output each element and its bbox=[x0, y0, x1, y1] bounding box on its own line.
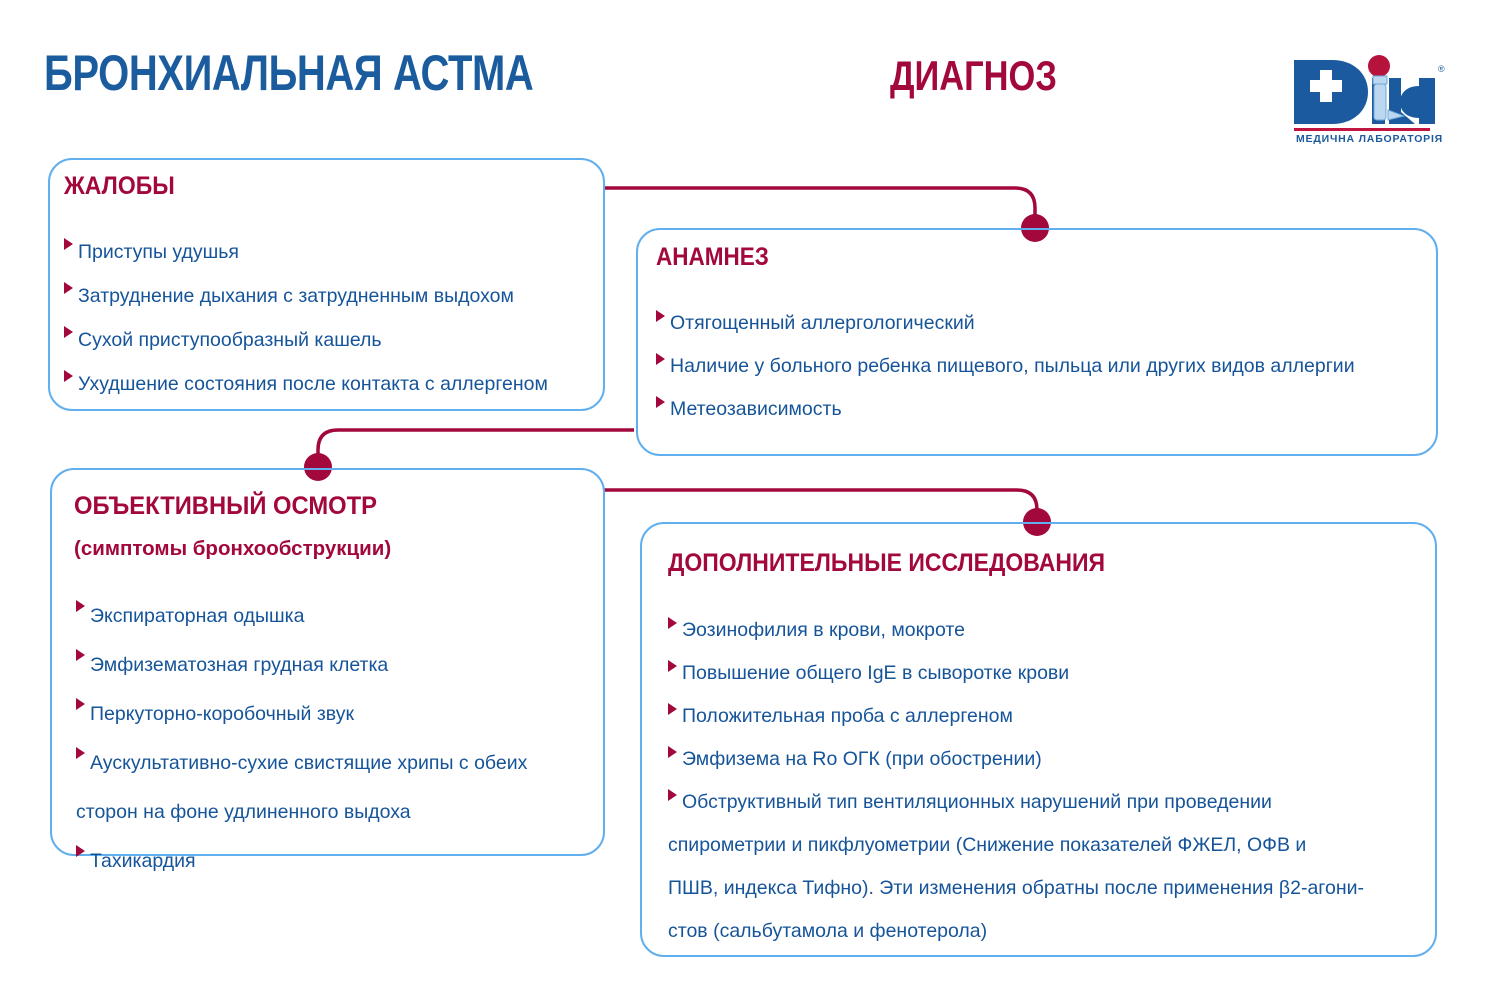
list-item: Затруднение дыхания с затрудненным выдох… bbox=[64, 274, 591, 318]
list-item: Экспираторная одышка bbox=[76, 592, 589, 641]
logo-divider bbox=[1294, 128, 1430, 131]
dila-logo: ® МЕДИЧНА ЛАБОРАТОРІЯ bbox=[1288, 52, 1448, 144]
list-item: Эмфизематозная грудная клетка bbox=[76, 641, 589, 690]
list-item: Отягощенный аллергологический bbox=[656, 302, 1424, 345]
card-title-osmotr: ОБЪЕКТИВНЫЙ ОСМОТР bbox=[74, 492, 377, 521]
list-item: Обструктивный тип вентиляционных нарушен… bbox=[668, 781, 1421, 824]
page-subtitle: ДИАГНОЗ bbox=[890, 55, 1057, 97]
bullet-list-zhaloby: Приступы удушья Затруднение дыхания с за… bbox=[64, 230, 591, 406]
list-item: Наличие у больного ребенка пищевого, пыл… bbox=[656, 345, 1424, 388]
list-item-continuation: спирометрии и пикфлуометрии (Снижение по… bbox=[668, 824, 1421, 867]
list-item-continuation: ПШВ, индекса Тифно). Эти изменения обрат… bbox=[668, 867, 1421, 910]
list-item: Ухудшение состояния после контакта с алл… bbox=[64, 362, 591, 406]
card-anamnez: АНАМНЕЗ Отягощенный аллергологический На… bbox=[636, 228, 1438, 456]
bullet-list-osmotr: Экспираторная одышка Эмфизематозная груд… bbox=[76, 592, 589, 886]
list-item: Приступы удушья bbox=[64, 230, 591, 274]
connector-osmotr-dop bbox=[604, 490, 1037, 520]
connector-anamnez-osmotr bbox=[318, 430, 634, 465]
card-subtitle-osmotr: (симптомы бронхообструкции) bbox=[74, 537, 391, 561]
list-item: Повышение общего IgE в сыворотке крови bbox=[668, 652, 1421, 695]
logo-red-dot-icon bbox=[1368, 55, 1390, 77]
registered-mark-icon: ® bbox=[1438, 64, 1445, 74]
card-title-zhaloby: ЖАЛОБЫ bbox=[64, 172, 175, 201]
list-item: Тахикардия bbox=[76, 837, 589, 886]
card-title-anamnez: АНАМНЕЗ bbox=[656, 243, 769, 272]
connector-zhaloby-anamnez bbox=[604, 188, 1035, 226]
list-item: Эмфизема на Ro ОГК (при обострении) bbox=[668, 738, 1421, 781]
list-item: Аускультативно-сухие свистящие хрипы с о… bbox=[76, 739, 589, 788]
card-zhaloby: ЖАЛОБЫ Приступы удушья Затруднение дыхан… bbox=[48, 158, 605, 411]
page-title: БРОНХИАЛЬНАЯ АСТМА bbox=[44, 48, 533, 98]
list-item: Перкуторно-коробочный звук bbox=[76, 690, 589, 739]
bullet-list-dop: Эозинофилия в крови, мокроте Повышение о… bbox=[668, 609, 1421, 953]
logo-letter-d-icon bbox=[1294, 60, 1368, 124]
bullet-list-anamnez: Отягощенный аллергологический Наличие у … bbox=[656, 302, 1424, 431]
infographic-page: БРОНХИАЛЬНАЯ АСТМА ДИАГНОЗ bbox=[0, 0, 1500, 991]
card-osmotr: ОБЪЕКТИВНЫЙ ОСМОТР (симптомы бронхообстр… bbox=[50, 468, 605, 856]
list-item-continuation: сторон на фоне удлиненного выдоха bbox=[76, 788, 589, 837]
list-item: Положительная проба с аллергеном bbox=[668, 695, 1421, 738]
list-item: Эозинофилия в крови, мокроте bbox=[668, 609, 1421, 652]
logo-tagline: МЕДИЧНА ЛАБОРАТОРІЯ bbox=[1296, 133, 1443, 144]
card-dop: ДОПОЛНИТЕЛЬНЫЕ ИССЛЕДОВАНИЯ Эозинофилия … bbox=[640, 522, 1437, 957]
list-item: Метеозависимость bbox=[656, 388, 1424, 431]
list-item-continuation: стов (сальбутамола и фенотерола) bbox=[668, 910, 1421, 953]
list-item: Сухой приступообразный кашель bbox=[64, 318, 591, 362]
card-title-dop: ДОПОЛНИТЕЛЬНЫЕ ИССЛЕДОВАНИЯ bbox=[668, 549, 1105, 578]
